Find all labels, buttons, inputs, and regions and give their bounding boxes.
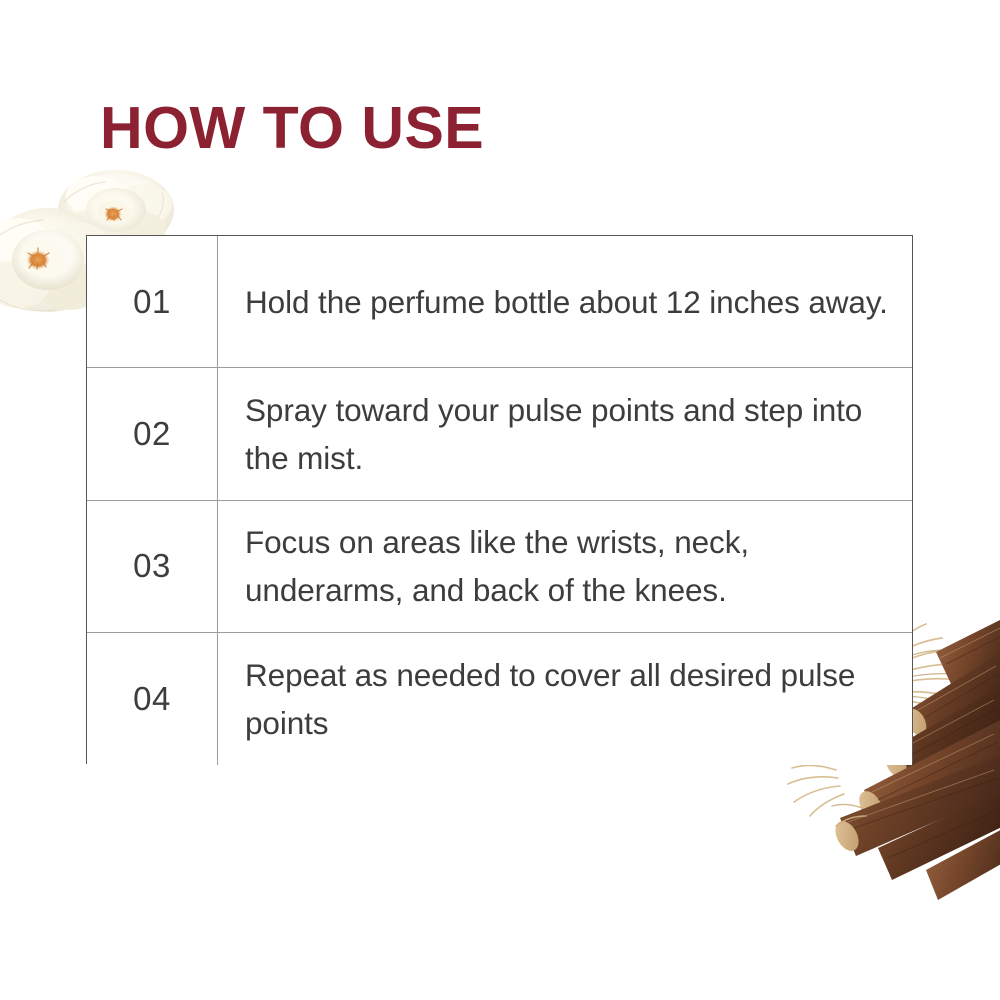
step-number-cell: 02 xyxy=(87,368,218,499)
step-text-cell: Focus on areas like the wrists, neck, un… xyxy=(218,501,912,632)
table-row: 01 Hold the perfume bottle about 12 inch… xyxy=(87,236,912,368)
step-text-cell: Hold the perfume bottle about 12 inches … xyxy=(218,236,912,367)
step-text: Focus on areas like the wrists, neck, un… xyxy=(245,518,890,614)
step-number: 03 xyxy=(133,547,171,585)
step-number: 01 xyxy=(133,283,171,321)
step-text: Hold the perfume bottle about 12 inches … xyxy=(245,278,888,326)
step-number: 04 xyxy=(133,680,171,718)
how-to-use-steps-table: 01 Hold the perfume bottle about 12 inch… xyxy=(86,235,913,764)
page-title: HOW TO USE xyxy=(100,99,484,158)
table-row: 04 Repeat as needed to cover all desired… xyxy=(87,633,912,765)
step-number: 02 xyxy=(133,415,171,453)
table-row: 03 Focus on areas like the wrists, neck,… xyxy=(87,501,912,633)
table-row: 02 Spray toward your pulse points and st… xyxy=(87,368,912,500)
step-number-cell: 04 xyxy=(87,633,218,765)
step-text: Repeat as needed to cover all desired pu… xyxy=(245,651,890,747)
poster-canvas: HOW TO USE 01 Hold the perfume bottle ab… xyxy=(0,0,1000,1000)
step-text: Spray toward your pulse points and step … xyxy=(245,386,890,482)
step-text-cell: Spray toward your pulse points and step … xyxy=(218,368,912,499)
step-number-cell: 03 xyxy=(87,501,218,632)
step-text-cell: Repeat as needed to cover all desired pu… xyxy=(218,633,912,765)
step-number-cell: 01 xyxy=(87,236,218,367)
